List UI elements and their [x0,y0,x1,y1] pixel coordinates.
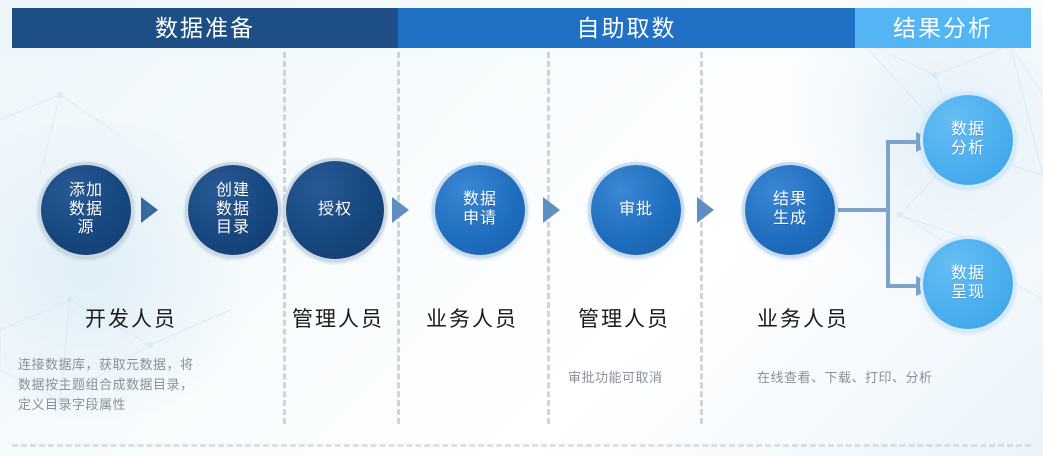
role-label-developer: 开发人员 [85,303,177,333]
node-label-line: 申请 [463,210,497,229]
lane-separator-2 [397,52,400,424]
node-data-request[interactable]: 数据 申请 [432,162,528,258]
node-disc: 结果 生成 [745,165,835,255]
description-approval: 审批功能可取消 [568,368,748,388]
node-label-line: 创建 [216,182,250,201]
node-label: 添加 数据 源 [69,182,103,239]
node-label-line: 审批 [619,201,653,220]
node-label-line: 结果 [773,191,807,210]
node-result-generate[interactable]: 结果 生成 [742,162,838,258]
node-data-analysis[interactable]: 数据 分析 [920,92,1016,188]
node-label-line: 数据 [69,201,103,220]
arrow-right-icon-2 [392,197,409,223]
node-create-catalog[interactable]: 创建 数据 目录 [185,162,281,258]
flowchart-canvas: 数据准备 自助取数 结果分析 添加 数据 源 创建 数据 [0,0,1043,456]
node-approval[interactable]: 审批 [588,162,684,258]
phase-band-label: 数据准备 [155,17,255,40]
node-disc: 创建 数据 目录 [188,165,278,255]
node-add-data-source[interactable]: 添加 数据 源 [38,162,134,258]
phase-band-self-service[interactable]: 自助取数 [398,8,855,48]
node-label-line: 分析 [951,140,985,159]
node-label-line: 数据 [951,121,985,140]
node-label: 数据 申请 [463,191,497,229]
node-label-line: 生成 [773,210,807,229]
description-line: 审批功能可取消 [568,368,748,388]
role-label-admin-1: 管理人员 [292,303,384,333]
node-label-line: 数据 [463,191,497,210]
phase-band-data-prep[interactable]: 数据准备 [12,8,398,48]
role-label-business-2: 业务人员 [757,303,849,333]
description-line: 在线查看、下载、打印、分析 [757,368,1019,388]
node-disc: 数据 呈现 [923,239,1013,329]
description-result: 在线查看、下载、打印、分析 [757,368,1019,388]
node-disc: 授权 [286,161,384,259]
role-label-business-1: 业务人员 [426,303,518,333]
node-label-line: 授权 [318,201,352,220]
node-label-line: 添加 [69,182,103,201]
node-authorize[interactable]: 授权 [283,158,387,262]
node-disc: 数据 申请 [435,165,525,255]
node-label: 审批 [619,201,653,220]
node-label-line: 呈现 [951,284,985,303]
arrow-right-icon-3 [543,197,560,223]
node-disc: 数据 分析 [923,95,1013,185]
node-label-line: 数据 [216,201,250,220]
phase-band-label: 自助取数 [577,17,677,40]
node-disc: 添加 数据 源 [41,165,131,255]
node-label: 数据 分析 [951,121,985,159]
description-line: 定义目录字段属性 [18,395,286,415]
arrow-right-icon-4 [697,197,714,223]
node-label-line: 目录 [216,219,250,238]
phase-header-bar: 数据准备 自助取数 结果分析 [12,8,1031,48]
phase-band-label: 结果分析 [893,17,993,40]
node-label: 授权 [318,201,352,220]
node-label-line: 数据 [951,265,985,284]
node-disc: 审批 [591,165,681,255]
phase-band-result-analysis[interactable]: 结果分析 [855,8,1031,48]
node-label: 结果 生成 [773,191,807,229]
description-line: 连接数据库，获取元数据，将 [18,355,286,375]
arrow-right-icon-1 [141,197,158,223]
description-line: 数据按主题组合成数据目录， [18,375,286,395]
node-data-present[interactable]: 数据 呈现 [920,236,1016,332]
node-label: 创建 数据 目录 [216,182,250,239]
node-label: 数据 呈现 [951,265,985,303]
node-label-line: 源 [69,219,103,238]
lane-separator-3 [547,52,550,424]
description-data-prep: 连接数据库，获取元数据，将 数据按主题组合成数据目录， 定义目录字段属性 [18,355,286,415]
role-label-admin-2: 管理人员 [578,303,670,333]
bottom-separator [12,444,1031,447]
